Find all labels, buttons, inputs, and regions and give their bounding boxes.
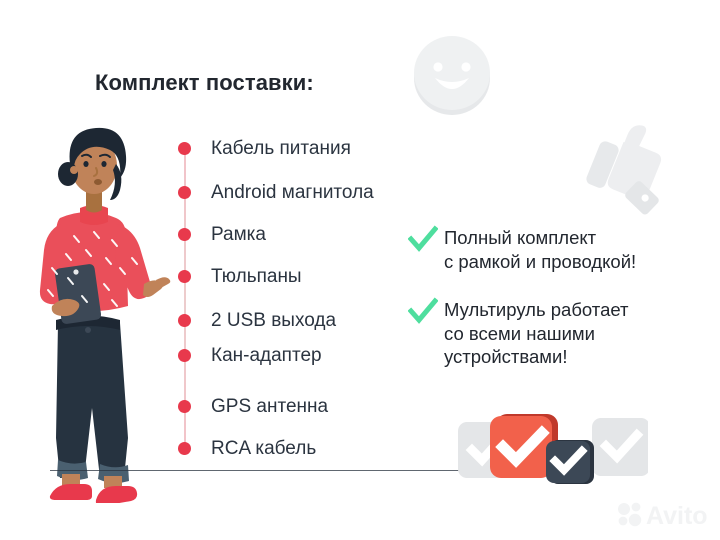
benefit-item: Полный комплект с рамкой и проводкой! [408,226,636,273]
benefit-label: Мультируль работает со всеми нашими устр… [444,298,629,369]
ground-line [50,470,460,471]
list-item-label: RCA кабель [211,438,316,460]
woman-pointing-illustration [8,108,180,503]
list-item-label: 2 USB выхода [211,310,336,332]
bullet-dot-icon [178,314,191,327]
list-item: RCA кабель [178,438,316,460]
bullet-dot-icon [178,400,191,413]
list-item: Кан-адаптер [178,345,322,367]
check-icon [408,297,438,327]
list-item: GPS антенна [178,396,328,418]
list-item-label: Рамка [211,224,266,246]
benefit-item: Мультируль работает со всеми нашими устр… [408,298,629,369]
list-item: 2 USB выхода [178,310,336,332]
list-item: Тюльпаны [178,266,302,288]
list-item-label: Android магнитола [211,182,374,204]
smiley-face-icon [411,34,493,116]
list-item-label: Кабель питания [211,138,351,160]
benefit-label: Полный комплект с рамкой и проводкой! [444,226,636,273]
list-item-label: Тюльпаны [211,266,302,288]
list-item-label: Кан-адаптер [211,345,322,367]
bullet-dot-icon [178,270,191,283]
avito-watermark: Avito [616,500,712,530]
bullet-dot-icon [178,142,191,155]
bullet-dot-icon [178,442,191,455]
check-icon [408,225,438,255]
avito-watermark-label: Avito [646,502,708,530]
list-item: Рамка [178,224,266,246]
list-item-label: GPS антенна [211,396,328,418]
thumbs-up-icon [572,108,688,224]
bullet-dot-icon [178,228,191,241]
bullet-dot-icon [178,349,191,362]
list-item: Кабель питания [178,138,351,160]
supply-kit-list: Кабель питанияAndroid магнитолаРамкаТюль… [178,126,418,466]
promo-card: Комплект поставки: Кабель питанияAndroid… [0,0,720,540]
page-title: Комплект поставки: [95,70,314,96]
bullet-dot-icon [178,186,191,199]
list-item: Android магнитола [178,182,374,204]
checkbox-group-icon [458,412,648,492]
